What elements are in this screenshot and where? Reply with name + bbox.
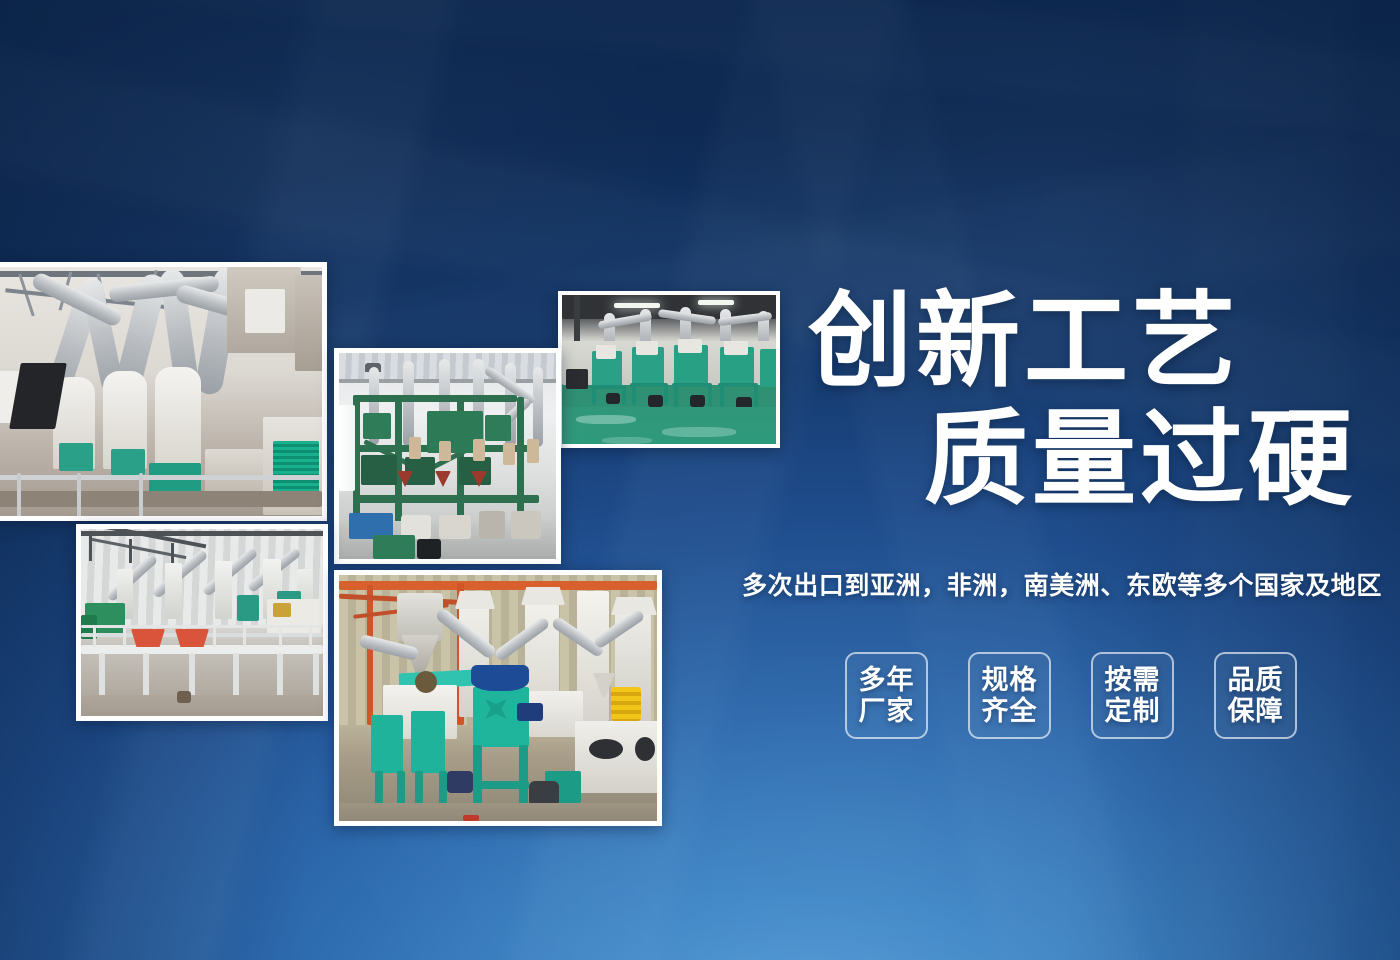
headline-block: 创新工艺 质量过硬 bbox=[756, 284, 1400, 519]
badge-line-bottom: 保障 bbox=[1228, 696, 1284, 726]
badge-line-bottom: 厂家 bbox=[859, 696, 915, 726]
badge-years-manufacturer[interactable]: 多年 厂家 bbox=[845, 652, 928, 739]
subtitle-text: 多次出口到亚洲，非洲，南美洲、东欧等多个国家及地区 bbox=[742, 566, 1400, 602]
photo-green-frame-flour-mill-plant bbox=[334, 348, 561, 564]
photo-rice-milling-line-grey-ducts bbox=[0, 262, 327, 521]
badge-line-top: 品质 bbox=[1228, 665, 1284, 695]
badge-line-top: 规格 bbox=[982, 665, 1038, 695]
photo-teal-combined-rice-mill-unit bbox=[334, 570, 662, 826]
photo-green-floor-milling-machines bbox=[558, 291, 780, 448]
photo-steel-shed-grain-cleaning-line bbox=[76, 524, 328, 721]
feature-badge-list: 多年 厂家 规格 齐全 按需 定制 品质 保障 bbox=[845, 652, 1297, 739]
promotional-banner: 创新工艺 质量过硬 多次出口到亚洲，非洲，南美洲、东欧等多个国家及地区 多年 厂… bbox=[0, 0, 1400, 960]
badge-line-bottom: 定制 bbox=[1105, 696, 1161, 726]
badge-line-bottom: 齐全 bbox=[982, 696, 1038, 726]
headline-line-1: 创新工艺 bbox=[756, 284, 1400, 402]
badge-full-specifications[interactable]: 规格 齐全 bbox=[968, 652, 1051, 739]
badge-line-top: 按需 bbox=[1105, 665, 1161, 695]
headline-line-2: 质量过硬 bbox=[756, 402, 1400, 520]
badge-custom-on-demand[interactable]: 按需 定制 bbox=[1091, 652, 1174, 739]
badge-quality-guarantee[interactable]: 品质 保障 bbox=[1214, 652, 1297, 739]
badge-line-top: 多年 bbox=[859, 665, 915, 695]
